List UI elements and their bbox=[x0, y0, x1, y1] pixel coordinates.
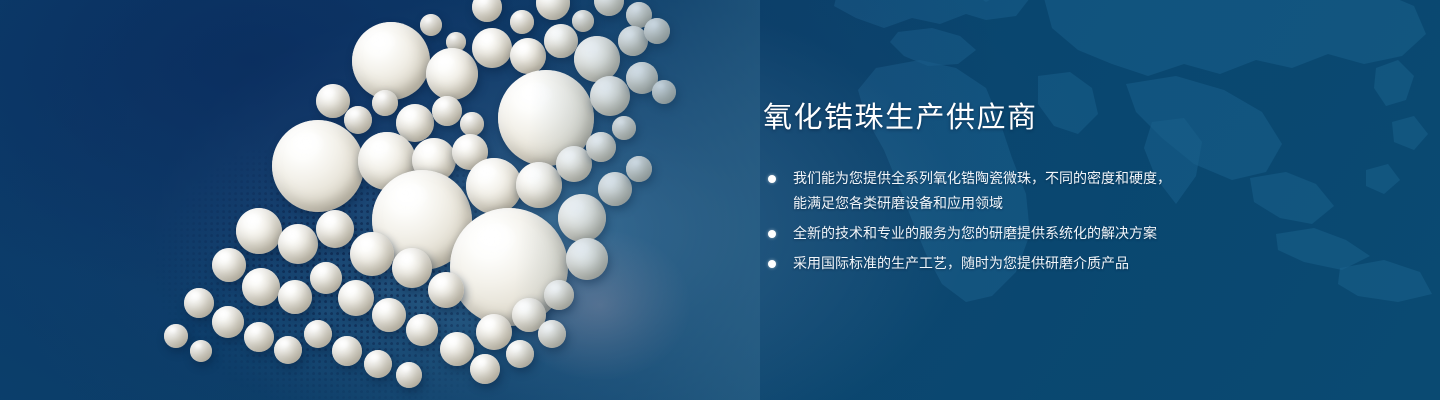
list-item-line: 全新的技术和专业的服务为您的研磨提供系统化的解决方案 bbox=[793, 221, 1363, 246]
list-item-line: 能满足您各类研磨设备和应用领域 bbox=[793, 191, 1363, 216]
bullet-dot-icon bbox=[768, 230, 776, 238]
hero-banner: 氧化锆珠生产供应商 我们能为您提供全系列氧化锆陶瓷微珠，不同的密度和硬度， 能满… bbox=[0, 0, 1440, 400]
list-item: 全新的技术和专业的服务为您的研磨提供系统化的解决方案 bbox=[763, 221, 1363, 246]
bullet-dot-icon bbox=[768, 175, 776, 183]
zirconia-beads-image bbox=[120, 0, 760, 400]
list-item: 采用国际标准的生产工艺，随时为您提供研磨介质产品 bbox=[763, 251, 1363, 276]
page-title: 氧化锆珠生产供应商 bbox=[763, 104, 1363, 133]
list-item-line: 我们能为您提供全系列氧化锆陶瓷微珠，不同的密度和硬度， bbox=[793, 166, 1363, 191]
list-item: 我们能为您提供全系列氧化锆陶瓷微珠，不同的密度和硬度， 能满足您各类研磨设备和应… bbox=[763, 166, 1363, 216]
bullet-dot-icon bbox=[768, 260, 776, 268]
feature-list: 我们能为您提供全系列氧化锆陶瓷微珠，不同的密度和硬度， 能满足您各类研磨设备和应… bbox=[763, 166, 1363, 276]
list-item-line: 采用国际标准的生产工艺，随时为您提供研磨介质产品 bbox=[793, 251, 1363, 276]
banner-copy: 氧化锆珠生产供应商 我们能为您提供全系列氧化锆陶瓷微珠，不同的密度和硬度， 能满… bbox=[763, 104, 1363, 276]
